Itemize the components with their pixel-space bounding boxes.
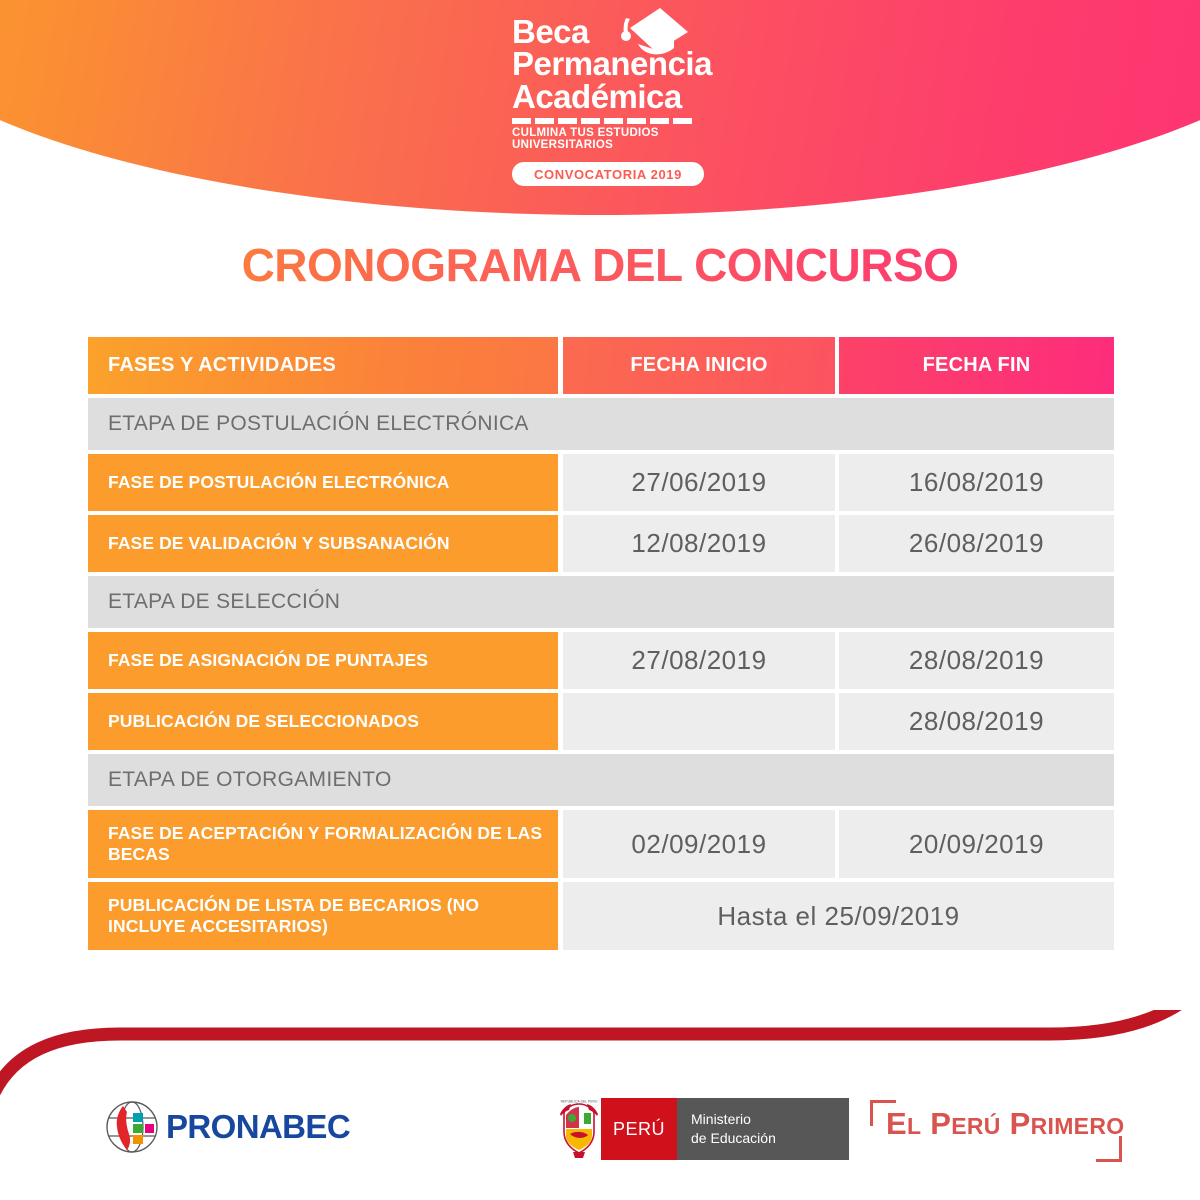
minedu-line-2: de Educación [691, 1129, 833, 1148]
logo-wordmark: Beca Permanencia Académica [450, 16, 750, 113]
column-header-fases: FASES Y ACTIVIDADES [88, 337, 558, 394]
minedu-line-1: Ministerio [691, 1110, 833, 1129]
row-end-date: 20/09/2019 [839, 810, 1114, 878]
column-header-fecha-inicio: FECHA INICIO [563, 337, 835, 394]
logo-tagline: CULMINA TUS ESTUDIOS UNIVERSITARIOS [512, 127, 750, 151]
pp-word2: P [930, 1106, 951, 1141]
table-row: PUBLICACIÓN DE SELECCIONADOS 28/08/2019 [88, 693, 1114, 750]
row-start-date [563, 693, 835, 750]
svg-text:REPUBLICA DEL PERU: REPUBLICA DEL PERU [561, 1100, 598, 1104]
stage-row: ETAPA DE SELECCIÓN [88, 576, 1114, 628]
header-banner: Beca Permanencia Académica CULMINA TUS E… [0, 0, 1200, 215]
stage-row: ETAPA DE OTORGAMIENTO [88, 754, 1114, 806]
pronabec-logo: PRONABEC [105, 1100, 350, 1154]
page-title: CRONOGRAMA DEL CONCURSO [0, 238, 1200, 292]
table-row: FASE DE POSTULACIÓN ELECTRÓNICA 27/06/20… [88, 454, 1114, 511]
row-start-date: 12/08/2019 [563, 515, 835, 572]
pp-word2b: ERÚ [951, 1113, 1000, 1139]
peru-primero-logo: EL PERÚ PRIMERO [870, 1100, 1122, 1162]
table-row: FASE DE ASIGNACIÓN DE PUNTAJES 27/08/201… [88, 632, 1114, 689]
red-swoosh-divider [0, 1010, 1200, 1100]
table-row: FASE DE VALIDACIÓN Y SUBSANACIÓN 12/08/2… [88, 515, 1114, 572]
row-merged-date: Hasta el 25/09/2019 [563, 882, 1114, 950]
row-label: FASE DE ASIGNACIÓN DE PUNTAJES [88, 632, 558, 689]
table-row: FASE DE ACEPTACIÓN Y FORMALIZACIÓN DE LA… [88, 810, 1114, 878]
pp-word1b: L [907, 1113, 921, 1139]
row-end-date: 26/08/2019 [839, 515, 1114, 572]
convocatoria-badge: CONVOCATORIA 2019 [512, 162, 704, 186]
logo-dash-divider [512, 118, 750, 124]
row-label: FASE DE VALIDACIÓN Y SUBSANACIÓN [88, 515, 558, 572]
table-header-row: FASES Y ACTIVIDADES FECHA INICIO FECHA F… [88, 337, 1114, 394]
pp-word3b: RIMERO [1031, 1113, 1125, 1139]
footer-logos: PRONABEC REPUBLICA DEL PERU PERÚ Ministe… [0, 1092, 1200, 1182]
minedu-peru-block: PERÚ [601, 1098, 677, 1160]
logo-line-3: Académica [512, 81, 750, 113]
pp-word1: E [886, 1106, 907, 1141]
beca-permanencia-logo: Beca Permanencia Académica CULMINA TUS E… [0, 0, 1200, 215]
table-row: PUBLICACIÓN DE LISTA DE BECARIOS (NO INC… [88, 882, 1114, 950]
column-header-fecha-fin: FECHA FIN [839, 337, 1114, 394]
peru-primero-wordmark: EL PERÚ PRIMERO [886, 1106, 1124, 1142]
row-end-date: 16/08/2019 [839, 454, 1114, 511]
minedu-peru-label: PERÚ [613, 1119, 665, 1140]
minedu-logo: REPUBLICA DEL PERU PERÚ Ministerio de Ed… [557, 1098, 849, 1160]
row-end-date: 28/08/2019 [839, 632, 1114, 689]
row-label: PUBLICACIÓN DE SELECCIONADOS [88, 693, 558, 750]
stage-row: ETAPA DE POSTULACIÓN ELECTRÓNICA [88, 398, 1114, 450]
row-start-date: 27/08/2019 [563, 632, 835, 689]
pp-word3: P [1010, 1106, 1031, 1141]
cronograma-table: FASES Y ACTIVIDADES FECHA INICIO FECHA F… [88, 337, 1114, 954]
row-start-date: 27/06/2019 [563, 454, 835, 511]
row-start-date: 02/09/2019 [563, 810, 835, 878]
minedu-department-block: Ministerio de Educación [677, 1098, 849, 1160]
graduation-cap-icon [604, 6, 690, 78]
row-label: FASE DE POSTULACIÓN ELECTRÓNICA [88, 454, 558, 511]
peru-coat-of-arms-icon: REPUBLICA DEL PERU [557, 1098, 601, 1160]
row-label: FASE DE ACEPTACIÓN Y FORMALIZACIÓN DE LA… [88, 810, 558, 878]
pronabec-wordmark: PRONABEC [166, 1108, 350, 1146]
pronabec-globe-icon [105, 1100, 159, 1154]
row-end-date: 28/08/2019 [839, 693, 1114, 750]
row-label: PUBLICACIÓN DE LISTA DE BECARIOS (NO INC… [88, 882, 558, 950]
